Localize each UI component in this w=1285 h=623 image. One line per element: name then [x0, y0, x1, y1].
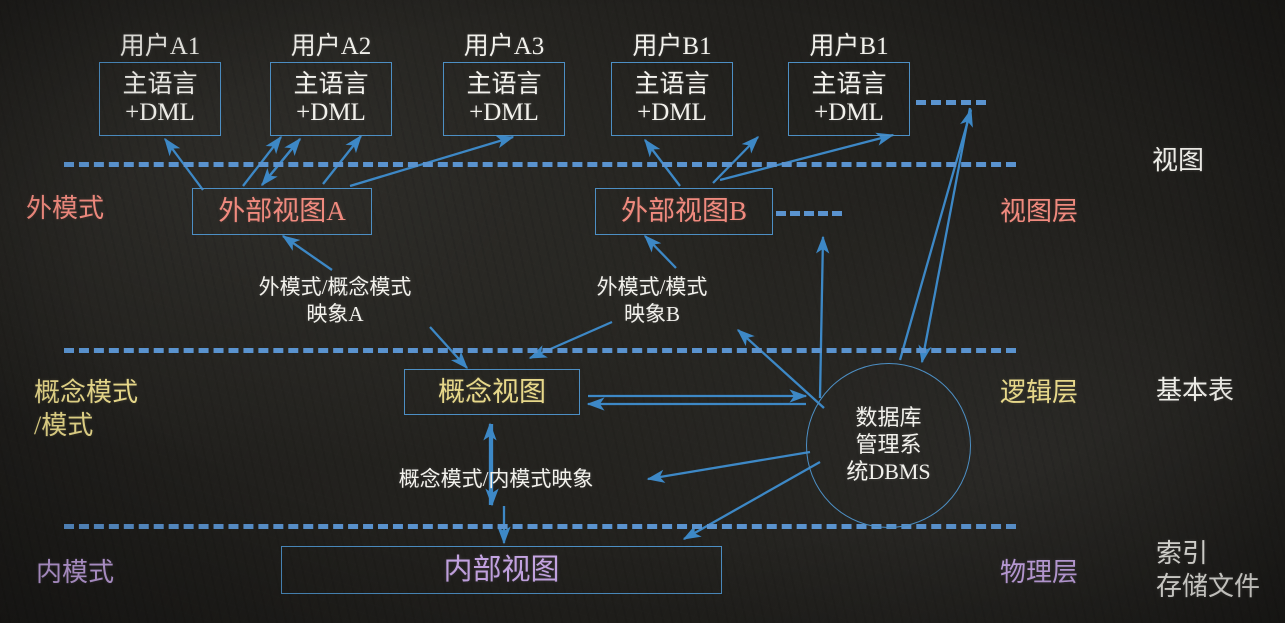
user-caption-4: 用户B1 [612, 26, 732, 62]
left-label-external-schema: 外模式 [26, 192, 196, 225]
user-caption-2: 用户A2 [271, 26, 391, 62]
right-label-view-layer: 视图层 [1000, 195, 1130, 228]
user-box-1-line1: 主语言 [122, 71, 197, 99]
right-label-physical-layer: 物理层 [1000, 556, 1130, 589]
left-label-conceptual-schema: 概念模式 /模式 [34, 376, 209, 443]
right-label-logical-layer: 逻辑层 [1000, 376, 1130, 409]
user-box-3[interactable]: 主语言 +DML [443, 62, 565, 136]
dash-stub-extview-b [776, 211, 842, 216]
user-box-4-line2: +DML [637, 99, 707, 127]
user-box-2-line1: 主语言 [293, 71, 368, 99]
user-box-5-line1: 主语言 [811, 71, 886, 99]
user-box-4-line1: 主语言 [634, 71, 709, 99]
user-box-5-line2: +DML [814, 99, 884, 127]
dbms-label: 数据库 管理系 统DBMS [846, 405, 930, 485]
user-box-2[interactable]: 主语言 +DML [270, 62, 392, 136]
mapping-label-ext-concept-b: 外模式/模式 映象B [572, 274, 732, 329]
divider-external-level [64, 162, 1016, 167]
right-object-label-index-files: 索引 存储文件 [1156, 538, 1285, 603]
mapping-label-ext-concept-a: 外模式/概念模式 映象A [230, 274, 440, 329]
user-box-5[interactable]: 主语言 +DML [788, 62, 910, 136]
user-caption-3: 用户A3 [444, 26, 564, 62]
user-caption-1: 用户A1 [100, 26, 220, 62]
conceptual-view-box[interactable]: 概念视图 [404, 369, 580, 415]
user-box-3-line2: +DML [469, 99, 539, 127]
user-caption-5: 用户B1 [789, 26, 909, 62]
user-box-2-line2: +DML [296, 99, 366, 127]
diagram-canvas: 用户A1 主语言 +DML 用户A2 主语言 +DML 用户A3 主语言 +DM… [0, 0, 1285, 623]
user-box-1[interactable]: 主语言 +DML [99, 62, 221, 136]
dash-stub-user-b1 [916, 100, 986, 105]
external-view-a-label: 外部视图A [218, 196, 346, 226]
conceptual-view-label: 概念视图 [438, 377, 546, 407]
external-view-b-label: 外部视图B [621, 196, 747, 226]
internal-view-box[interactable]: 内部视图 [281, 546, 722, 594]
divider-conceptual-level [64, 348, 1016, 353]
user-box-1-line2: +DML [125, 99, 195, 127]
external-view-b-box[interactable]: 外部视图B [595, 188, 773, 235]
right-object-label-base-table: 基本表 [1156, 374, 1285, 407]
external-view-a-box[interactable]: 外部视图A [192, 188, 372, 235]
internal-view-label: 内部视图 [443, 554, 559, 586]
mapping-label-concept-internal: 概念模式/内模式映象 [356, 466, 636, 493]
right-object-label-view: 视图 [1152, 144, 1272, 177]
dbms-circle[interactable]: 数据库 管理系 统DBMS [806, 363, 971, 528]
left-label-internal-schema: 内模式 [36, 556, 206, 589]
user-box-4[interactable]: 主语言 +DML [611, 62, 733, 136]
user-box-3-line1: 主语言 [466, 71, 541, 99]
